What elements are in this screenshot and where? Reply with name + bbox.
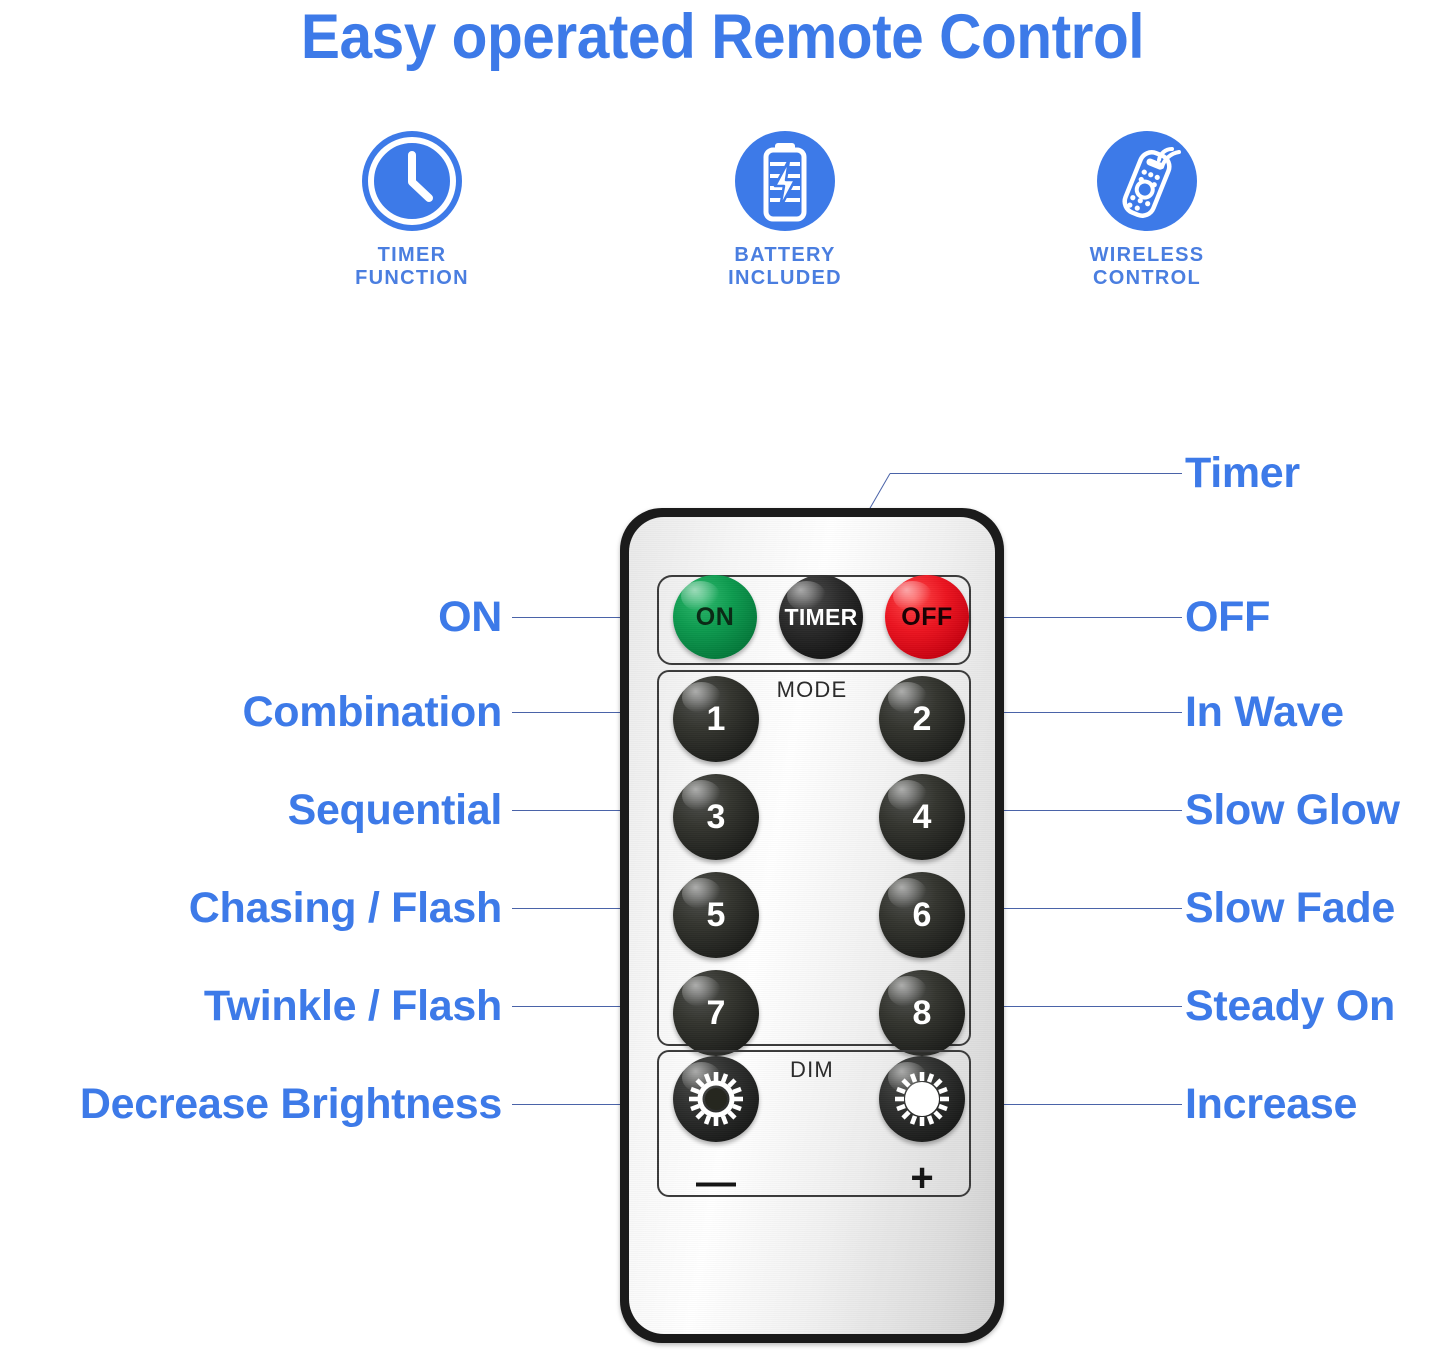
mode-button-7-label: 7 xyxy=(707,994,726,1033)
remote-control-device: ON TIMER OFF MODE 1 2 3 4 5 6 7 8 DIM xyxy=(620,508,1004,1343)
callout-off: OFF xyxy=(1185,593,1270,641)
callout-sequential: Sequential xyxy=(12,786,502,834)
dim-plus-symbol: + xyxy=(892,1158,952,1198)
callout-steady-on: Steady On xyxy=(1185,982,1395,1030)
infographic-root: Easy operated Remote Control TIMER FUNCT… xyxy=(0,0,1445,1351)
feature-wireless-caption: WIRELESS CONTROL xyxy=(1017,244,1277,290)
mode-button-2[interactable]: 2 xyxy=(879,676,965,762)
remote-signal-icon xyxy=(1096,130,1198,232)
brightness-low-icon xyxy=(673,1056,759,1142)
feature-wireless-line1: WIRELESS xyxy=(1017,244,1277,267)
feature-battery-caption: BATTERY INCLUDED xyxy=(655,244,915,290)
callout-on: ON xyxy=(12,593,502,641)
mode-button-3-label: 3 xyxy=(707,798,726,837)
mode-button-5[interactable]: 5 xyxy=(673,872,759,958)
feature-timer-line1: TIMER xyxy=(282,244,542,267)
on-button[interactable]: ON xyxy=(673,575,757,659)
feature-battery-included: BATTERY INCLUDED xyxy=(655,130,915,290)
mode-button-8[interactable]: 8 xyxy=(879,970,965,1056)
feature-timer-caption: TIMER FUNCTION xyxy=(282,244,542,290)
mode-button-8-label: 8 xyxy=(913,994,932,1033)
mode-button-7[interactable]: 7 xyxy=(673,970,759,1056)
mode-button-3[interactable]: 3 xyxy=(673,774,759,860)
feature-timer-function: TIMER FUNCTION xyxy=(282,130,542,290)
battery-icon xyxy=(734,130,836,232)
off-button-label: OFF xyxy=(901,603,953,632)
callout-chasing-flash: Chasing / Flash xyxy=(12,884,502,932)
feature-wireless-line2: CONTROL xyxy=(1017,267,1277,290)
on-button-label: ON xyxy=(696,603,735,632)
brightness-high-icon xyxy=(879,1056,965,1142)
callout-timer: Timer xyxy=(1185,449,1300,497)
clock-icon xyxy=(361,130,463,232)
callout-combination: Combination xyxy=(12,688,502,736)
feature-wireless-control: WIRELESS CONTROL xyxy=(1017,130,1277,290)
callout-slow-glow: Slow Glow xyxy=(1185,786,1400,834)
callout-in-wave: In Wave xyxy=(1185,688,1344,736)
callout-increase: Increase xyxy=(1185,1080,1357,1128)
callout-slow-fade: Slow Fade xyxy=(1185,884,1395,932)
off-button[interactable]: OFF xyxy=(885,575,969,659)
timer-button[interactable]: TIMER xyxy=(779,575,863,659)
dim-decrease-button[interactable] xyxy=(673,1056,759,1142)
mode-button-1[interactable]: 1 xyxy=(673,676,759,762)
mode-button-4-label: 4 xyxy=(913,798,932,837)
mode-button-4[interactable]: 4 xyxy=(879,774,965,860)
page-title: Easy operated Remote Control xyxy=(51,2,1395,72)
callout-twinkle-flash: Twinkle / Flash xyxy=(12,982,502,1030)
leader-line-timer xyxy=(890,473,1182,474)
feature-badges: TIMER FUNCTION BATTERY INC xyxy=(0,130,1445,320)
remote-faceplate: ON TIMER OFF MODE 1 2 3 4 5 6 7 8 DIM xyxy=(629,517,995,1334)
dim-minus-symbol: — xyxy=(686,1162,746,1202)
feature-battery-line1: BATTERY xyxy=(655,244,915,267)
feature-battery-line2: INCLUDED xyxy=(655,267,915,290)
mode-button-2-label: 2 xyxy=(913,700,932,739)
dim-increase-button[interactable] xyxy=(879,1056,965,1142)
feature-timer-line2: FUNCTION xyxy=(282,267,542,290)
timer-button-label: TIMER xyxy=(784,604,857,631)
callout-decrease-brightness: Decrease Brightness xyxy=(2,1080,502,1128)
mode-button-6-label: 6 xyxy=(913,896,932,935)
mode-button-1-label: 1 xyxy=(707,700,726,739)
mode-button-6[interactable]: 6 xyxy=(879,872,965,958)
mode-button-5-label: 5 xyxy=(707,896,726,935)
